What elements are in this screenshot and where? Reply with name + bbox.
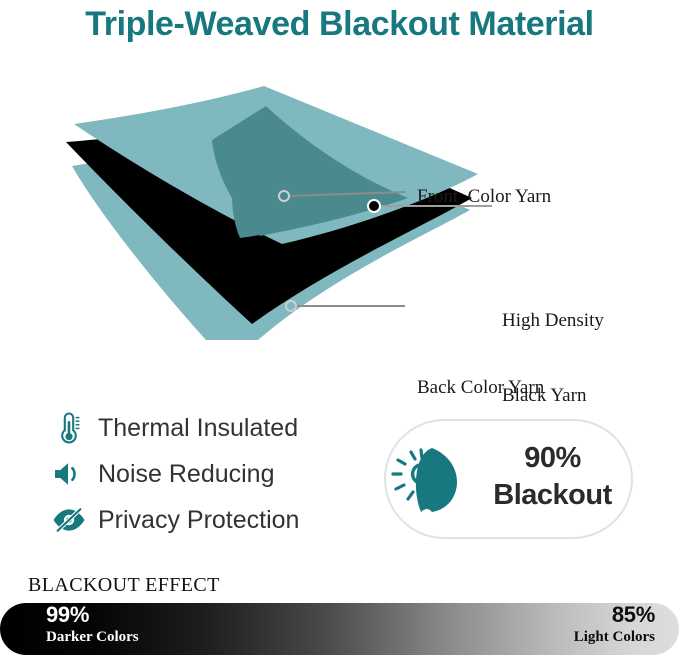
blackout-badge: 90% Blackout [384,419,633,539]
label-back-color-yarn: Back Color Yarn [417,375,544,400]
label-high-density-line1: High Density [502,308,604,333]
blackout-word: Blackout [493,479,611,511]
page-title: Triple-Weaved Blackout Material [0,2,679,46]
blackout-badge-text: 90% Blackout [474,442,631,516]
speaker-icon [48,454,90,494]
blackout-effect-heading: BLACKOUT EFFECT [28,574,220,597]
light-colors-percent: 85% [574,604,655,626]
thermometer-icon [48,408,90,448]
feature-item-thermal: Thermal Insulated [48,405,368,451]
feature-label-thermal: Thermal Insulated [98,414,298,443]
darker-colors-percent: 99% [46,604,139,626]
feature-label-noise: Noise Reducing [98,460,275,489]
feature-label-privacy: Privacy Protection [98,506,299,535]
fabric-layer-diagram: Front Color Yarn High Density Black Yarn… [0,78,679,358]
sun-curtain-icon [386,440,472,518]
feature-item-privacy: Privacy Protection [48,497,368,543]
eye-slash-icon [48,500,90,540]
blackout-effect-right: 85% Light Colors [574,604,655,645]
blackout-percent: 90% [524,442,581,474]
feature-list: Thermal Insulated Noise Reducing Privacy… [48,405,368,543]
feature-item-noise: Noise Reducing [48,451,368,497]
darker-colors-label: Darker Colors [46,630,139,645]
light-colors-label: Light Colors [574,630,655,645]
blackout-effect-left: 99% Darker Colors [46,604,139,645]
label-front-color-yarn: Front Color Yarn [417,184,551,209]
